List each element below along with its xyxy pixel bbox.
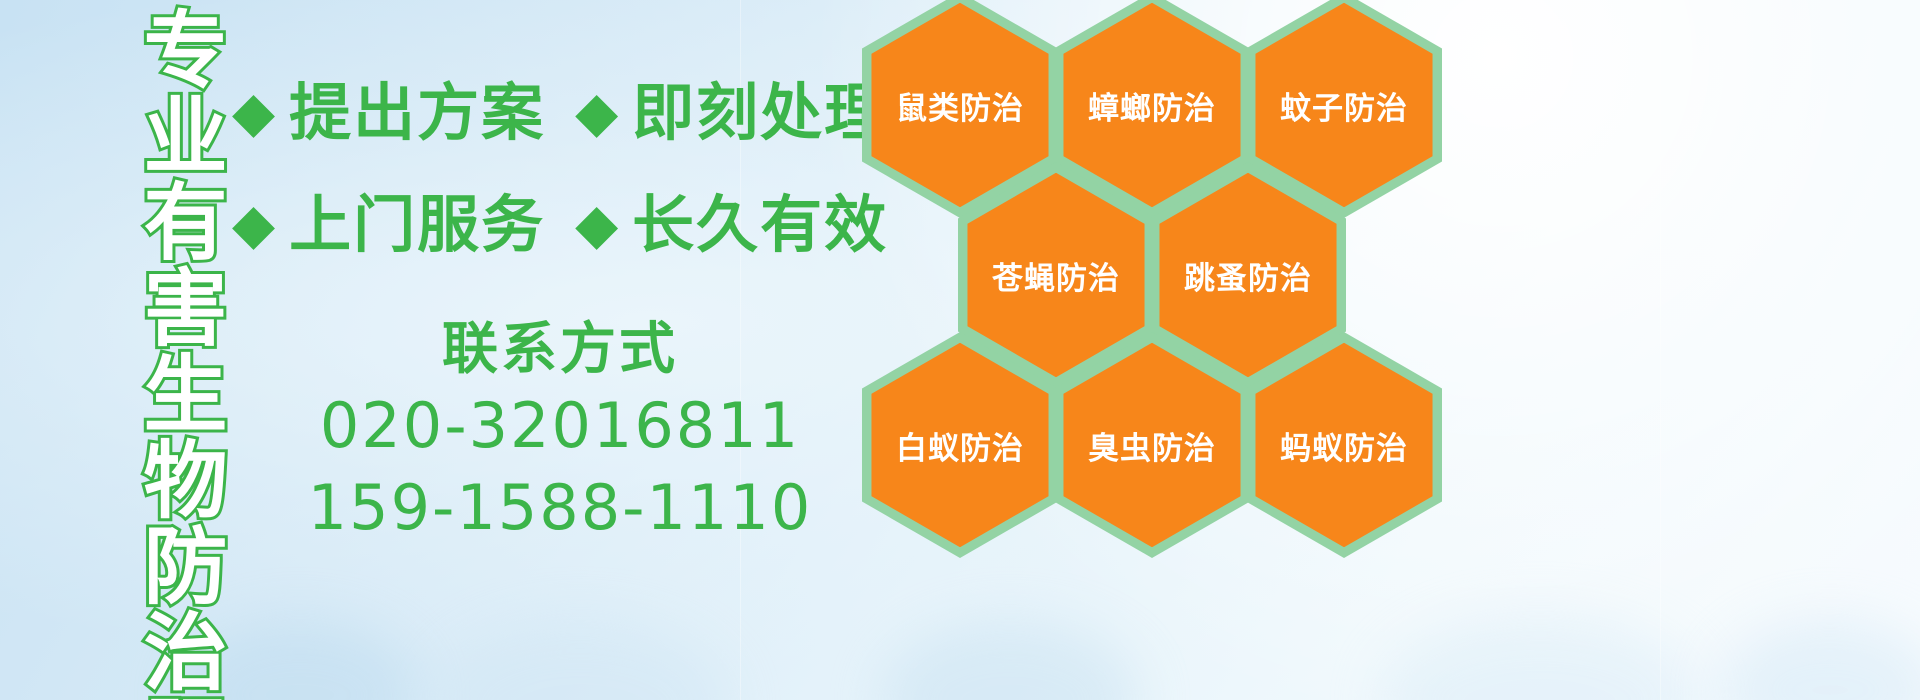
contact-block: 联系方式 020-32016811 159-1588-1110: [300, 315, 820, 549]
contact-title: 联系方式: [300, 315, 820, 385]
background-stripe: [1660, 0, 1661, 700]
service-hex-label: 鼠类防治: [896, 83, 1024, 128]
feature-label-onsite-service: 上门服务: [289, 194, 545, 256]
feature-label-long-lasting: 长久有效: [632, 194, 888, 256]
service-hex-ant[interactable]: 蚂蚁防治: [1246, 332, 1442, 558]
feature-row-2: ◆ 上门服务 ◆ 长久有效: [232, 194, 888, 256]
diamond-bullet-icon: ◆: [232, 197, 275, 253]
service-hex-termite[interactable]: 白蚁防治: [862, 332, 1058, 558]
diamond-bullet-icon: ◆: [232, 85, 275, 141]
feature-row-1: ◆ 提出方案 ◆ 即刻处理: [232, 82, 888, 144]
contact-phone-landline[interactable]: 020-32016811: [300, 385, 820, 467]
service-hex-label: 臭虫防治: [1088, 423, 1216, 468]
service-hex-label: 跳蚤防治: [1184, 253, 1312, 298]
diamond-bullet-icon: ◆: [575, 197, 618, 253]
contact-phone-mobile[interactable]: 159-1588-1110: [300, 467, 820, 549]
service-hex-label: 苍蝇防治: [992, 253, 1120, 298]
service-hex-label: 白蚁防治: [896, 423, 1024, 468]
promo-banner: 专业有害生物防治服务 ◆ 提出方案 ◆ 即刻处理 ◆ 上门服务 ◆ 长久有效 联…: [0, 0, 1920, 700]
service-hex-label: 蟑螂防治: [1088, 83, 1216, 128]
feature-label-instant-handling: 即刻处理: [632, 82, 888, 144]
background-blur-blob: [1720, 620, 1920, 700]
vertical-headline: 专业有害生物防治服务: [100, 6, 222, 700]
service-hex-bedbug[interactable]: 臭虫防治: [1054, 332, 1250, 558]
diamond-bullet-icon: ◆: [575, 85, 618, 141]
background-blur-blob: [430, 620, 730, 700]
feature-label-propose-plan: 提出方案: [289, 82, 545, 144]
service-honeycomb: 鼠类防治 蟑螂防治 蚊子防治 苍蝇防治 跳蚤防治 白蚁防治: [856, 0, 1456, 700]
service-hex-label: 蚊子防治: [1280, 83, 1408, 128]
service-hex-label: 蚂蚁防治: [1280, 423, 1408, 468]
